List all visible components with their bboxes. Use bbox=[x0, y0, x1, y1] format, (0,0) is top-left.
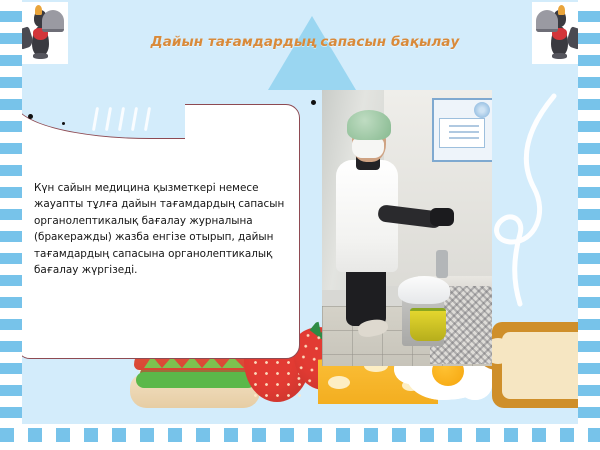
wall-notice-board bbox=[432, 98, 492, 162]
left-striped-border bbox=[0, 0, 22, 424]
black-glove-icon bbox=[430, 208, 454, 226]
bullet-point-left bbox=[28, 114, 33, 119]
surgical-cap-icon bbox=[347, 110, 391, 140]
bottom-checkered-border bbox=[0, 424, 600, 450]
bullet-point-right bbox=[311, 100, 316, 105]
mountain-triangle-shape bbox=[268, 16, 356, 90]
yellow-bucket bbox=[410, 308, 446, 341]
ray-lines-decoration bbox=[94, 107, 164, 133]
body-paragraph: Күн сайын медицина қызметкері немесе жау… bbox=[34, 180, 286, 278]
photo-medical-worker bbox=[322, 90, 492, 366]
right-striped-border bbox=[578, 0, 600, 424]
bullet-period-left bbox=[62, 122, 65, 125]
card-scallop-notch bbox=[15, 103, 185, 139]
page-title: Дайын тағамдардың сапасын бақылау bbox=[110, 34, 500, 50]
face-mask-icon bbox=[352, 138, 384, 158]
slide: Дайын тағамдардың сапасын бақылау bbox=[0, 0, 600, 450]
medical-worker-figure bbox=[332, 104, 412, 334]
